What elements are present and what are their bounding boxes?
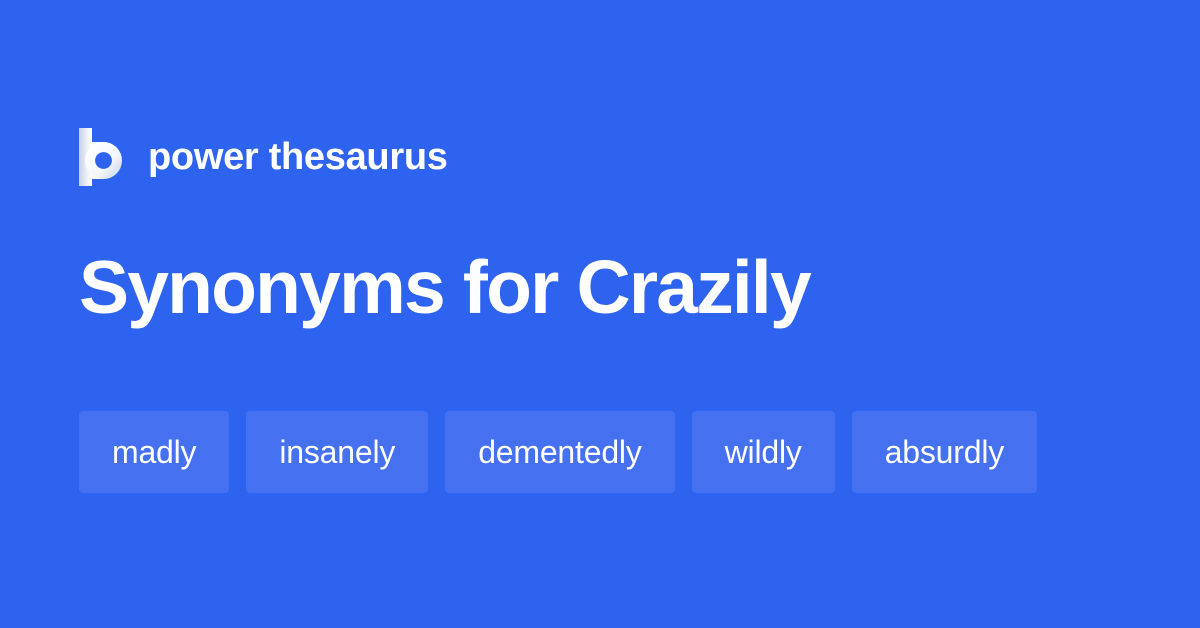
synonym-chip[interactable]: absurdly bbox=[852, 411, 1037, 493]
brand-logo-link[interactable]: power thesaurus bbox=[79, 126, 448, 188]
brand-name: power thesaurus bbox=[148, 138, 448, 176]
synonym-chip[interactable]: madly bbox=[79, 411, 229, 493]
share-card: power thesaurus Synonyms for Crazily mad… bbox=[0, 0, 1200, 628]
synonym-chip-label: dementedly bbox=[478, 436, 641, 468]
synonym-chip-label: wildly bbox=[725, 436, 802, 468]
synonym-chip-list: madly insanely dementedly wildly absurdl… bbox=[79, 411, 1037, 493]
synonym-chip[interactable]: dementedly bbox=[445, 411, 674, 493]
synonym-chip-label: madly bbox=[112, 436, 196, 468]
synonym-chip[interactable]: wildly bbox=[692, 411, 835, 493]
synonym-chip[interactable]: insanely bbox=[246, 411, 428, 493]
page-title: Synonyms for Crazily bbox=[79, 248, 810, 327]
synonym-chip-label: absurdly bbox=[885, 436, 1004, 468]
power-thesaurus-b-logo-icon bbox=[79, 128, 125, 186]
synonym-chip-label: insanely bbox=[279, 436, 395, 468]
